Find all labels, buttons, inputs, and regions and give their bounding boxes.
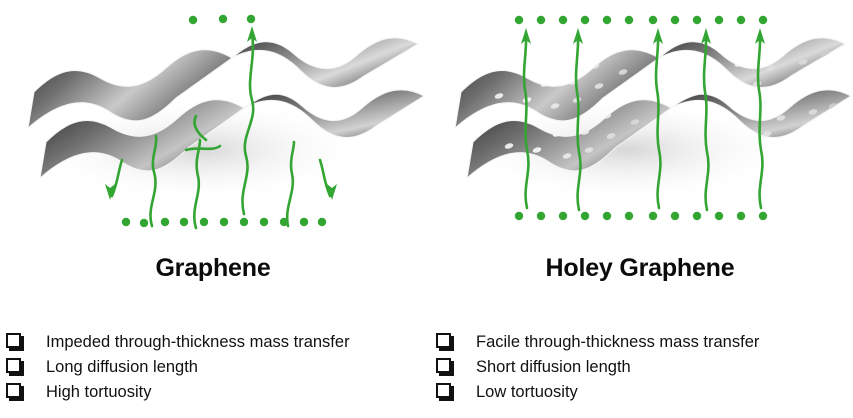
list-item-label: Long diffusion length (46, 358, 198, 377)
molecule-dot (318, 218, 326, 226)
molecules-top (189, 15, 255, 24)
list-item: Impeded through-thickness mass transfer (0, 332, 426, 357)
checkbox-icon (6, 383, 21, 398)
checkbox-icon (436, 358, 451, 373)
panel-holey-graphene: Holey Graphene Facile through-thickness … (427, 0, 853, 418)
molecule-dot (649, 16, 657, 24)
molecule-dot (649, 212, 657, 220)
figure-graphene-vs-holey-graphene: Graphene Impeded through-thickness mass … (0, 0, 853, 418)
molecule-dot (693, 212, 701, 220)
checkbox-icon (6, 358, 21, 373)
molecules-bottom (515, 212, 767, 220)
molecule-dot (537, 16, 545, 24)
checkbox-icon (436, 383, 451, 398)
list-item-label: Impeded through-thickness mass transfer (46, 333, 350, 352)
holey-graphene-stack-illustration (427, 0, 853, 240)
list-item: Short diffusion length (427, 357, 853, 382)
molecule-dot (603, 212, 611, 220)
molecule-dot (220, 218, 228, 226)
graphene-stack-illustration (0, 0, 426, 240)
list-item: Low tortuosity (427, 382, 853, 407)
nanopore (680, 52, 690, 59)
checkbox-icon (6, 333, 21, 348)
nanopore (722, 76, 732, 83)
molecule-dot (140, 219, 148, 227)
feature-list-graphene: Impeded through-thickness mass transfer … (0, 332, 426, 407)
molecule-dot (759, 212, 767, 220)
molecule-dot (581, 16, 589, 24)
molecule-dot (671, 212, 679, 220)
molecule-dot (247, 15, 255, 23)
checkbox-icon (436, 333, 451, 348)
nanopore (672, 66, 682, 73)
molecules-top (515, 16, 767, 24)
molecule-dot (737, 212, 745, 220)
molecule-dot (559, 212, 567, 220)
panel-graphene: Graphene Impeded through-thickness mass … (0, 0, 426, 418)
molecule-dot (300, 218, 308, 226)
list-item-label: High tortuosity (46, 383, 151, 402)
molecule-dot (715, 16, 723, 24)
list-item: Facile through-thickness mass transfer (427, 332, 853, 357)
nanopore (694, 72, 704, 79)
molecule-dot (515, 212, 523, 220)
molecule-dot (122, 218, 130, 226)
molecule-dot (559, 16, 567, 24)
molecule-dot (200, 218, 208, 226)
molecule-dot (581, 212, 589, 220)
list-item-label: Facile through-thickness mass transfer (476, 333, 759, 352)
page-title-holey-graphene: Holey Graphene (427, 254, 853, 283)
molecule-dot (515, 16, 523, 24)
molecule-dot (737, 16, 745, 24)
molecule-dot (260, 218, 268, 226)
feature-list-holey-graphene: Facile through-thickness mass transfer S… (427, 332, 853, 407)
molecule-dot (671, 16, 679, 24)
list-item-label: Low tortuosity (476, 383, 578, 402)
molecule-dot (603, 16, 611, 24)
diffusion-arrowheads (521, 28, 765, 44)
list-item: High tortuosity (0, 382, 426, 407)
molecule-dot (693, 16, 701, 24)
molecule-dot (219, 15, 227, 23)
molecule-dot (161, 218, 169, 226)
molecule-dot (625, 212, 633, 220)
molecule-dot (715, 212, 723, 220)
list-item-label: Short diffusion length (476, 358, 631, 377)
molecule-dot (180, 218, 188, 226)
molecule-dot (759, 16, 767, 24)
molecule-dot (537, 212, 545, 220)
molecule-dot (189, 16, 197, 24)
holey-sheet-back-right (659, 38, 845, 88)
list-item: Long diffusion length (0, 357, 426, 382)
molecule-dot (625, 16, 633, 24)
molecule-dot (240, 218, 248, 226)
page-title-graphene: Graphene (0, 254, 426, 283)
graphene-sheet-back-right (232, 38, 418, 88)
